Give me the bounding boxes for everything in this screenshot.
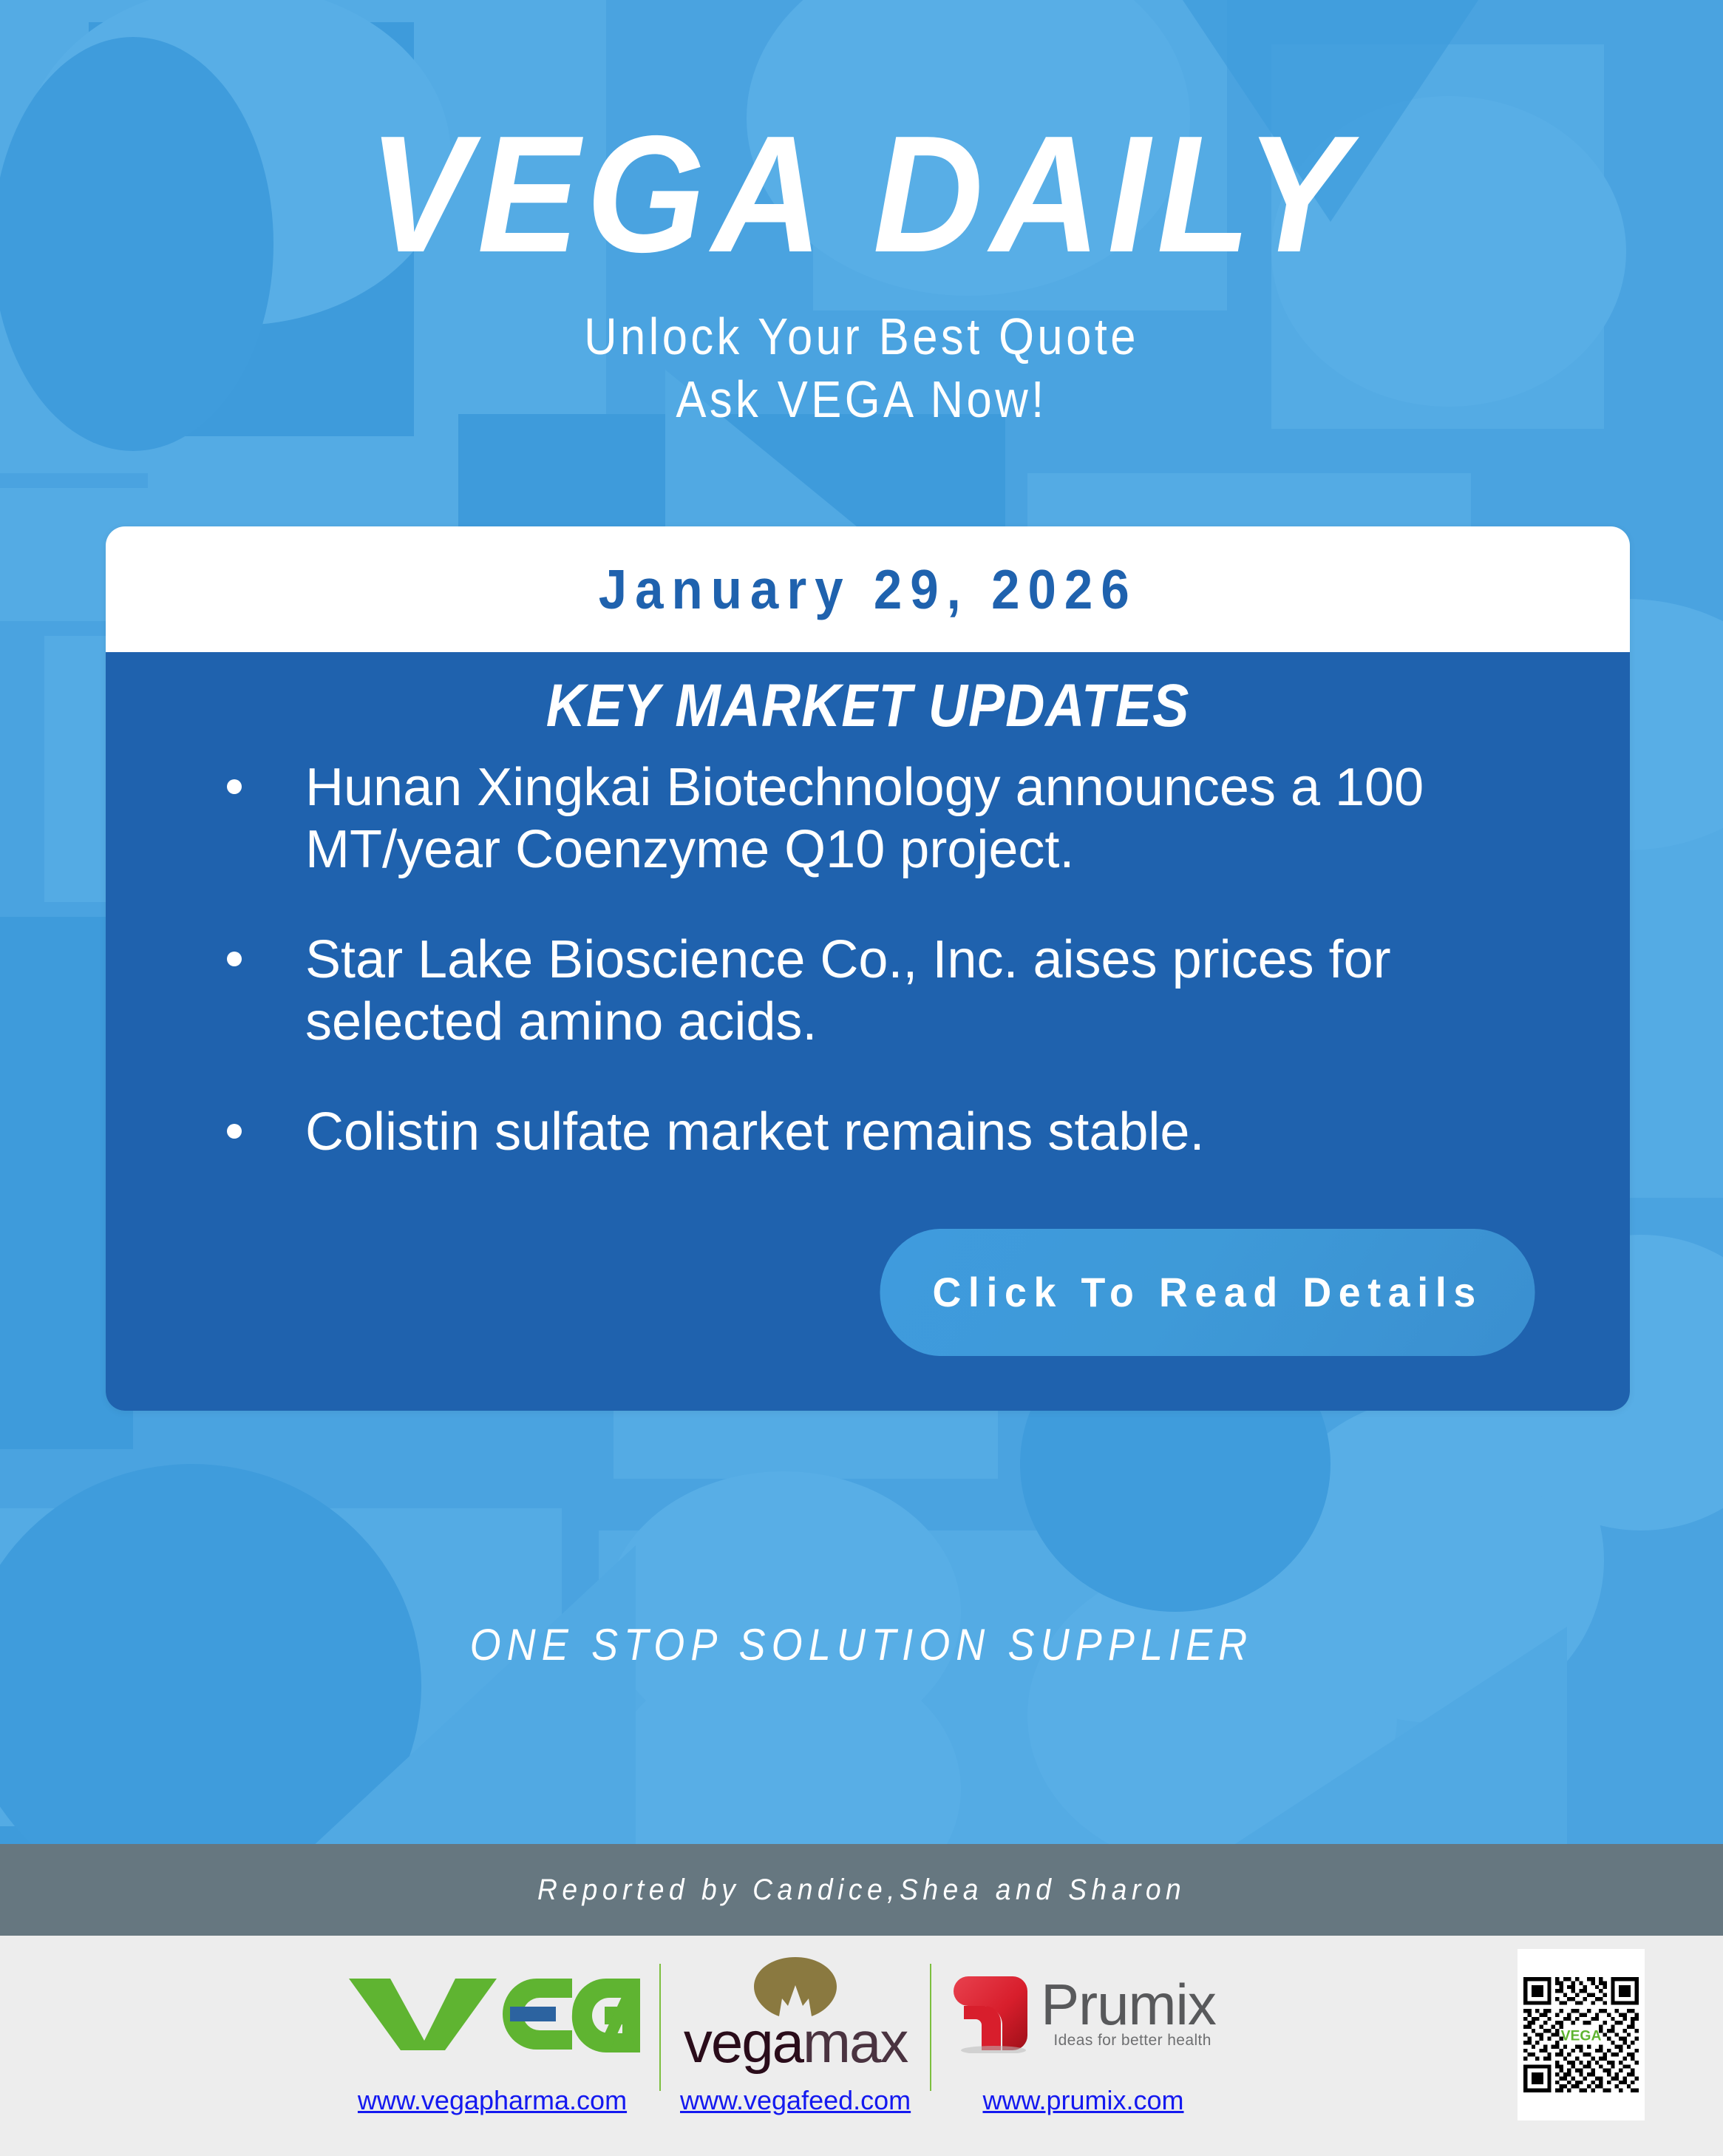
section-title: KEY MARKET UPDATES — [182, 671, 1554, 757]
brand-cell-vegamax: vegamax www.vegafeed.com — [661, 1945, 930, 2116]
bullet-dot-icon — [227, 1124, 242, 1139]
read-details-button[interactable]: Click To Read Details — [880, 1229, 1535, 1356]
newsletter-poster: VEGA DAILY Unlock Your Best Quote Ask VE… — [0, 0, 1723, 2156]
brand-cell-prumix: Prumix Ideas for better health www.prumi… — [931, 1945, 1235, 2116]
poster-header: VEGA DAILY Unlock Your Best Quote Ask VE… — [0, 0, 1723, 432]
date-banner: January 29, 2026 — [106, 526, 1630, 652]
vegafeed-link[interactable]: www.vegafeed.com — [680, 2085, 911, 2116]
company-slogan: ONE STOP SOLUTION SUPPLIER — [86, 1619, 1637, 1670]
vegamax-wordmark: vegamax — [684, 2013, 908, 2071]
list-item-text: Star Lake Bioscience Co., Inc. aises pri… — [305, 930, 1391, 1051]
bullet-dot-icon — [227, 779, 242, 794]
list-item-text: Colistin sulfate market remains stable. — [305, 1102, 1204, 1162]
tagline-line-2: Ask VEGA Now! — [103, 368, 1620, 431]
market-updates-card: January 29, 2026 KEY MARKET UPDATES Huna… — [106, 526, 1630, 1411]
tagline: Unlock Your Best Quote Ask VEGA Now! — [103, 277, 1620, 432]
list-item-text: Hunan Xingkai Biotechnology announces a … — [305, 758, 1424, 879]
qr-code-icon[interactable]: VEGA — [1518, 1949, 1645, 2121]
bullet-dot-icon — [227, 952, 242, 966]
tagline-line-1: Unlock Your Best Quote — [103, 305, 1620, 368]
vegamax-word-bold: vega — [684, 2010, 803, 2075]
brand-strip: www.vegapharma.com vegamax www.vegafeed.… — [325, 1945, 1235, 2116]
vegamax-logo-icon: vegamax — [684, 1956, 908, 2071]
reporter-credit: Reported by Candice,Shea and Sharon — [537, 1874, 1186, 1907]
vega-logo-box — [344, 1945, 640, 2082]
prumix-tagline: Ideas for better health — [1041, 2032, 1216, 2050]
prumix-link[interactable]: www.prumix.com — [982, 2085, 1183, 2116]
reporter-band: Reported by Candice,Shea and Sharon — [0, 1844, 1723, 1936]
footer: www.vegapharma.com vegamax www.vegafeed.… — [0, 1936, 1723, 2156]
prumix-text-column: Prumix Ideas for better health — [1041, 1977, 1216, 2050]
card-body: KEY MARKET UPDATES Hunan Xingkai Biotech… — [106, 652, 1630, 1411]
page-title: VEGA DAILY — [69, 0, 1654, 277]
market-updates-list: Hunan Xingkai Biotechnology announces a … — [106, 757, 1630, 1164]
vegamax-logo-box: vegamax — [684, 1945, 908, 2082]
prumix-logo-box: Prumix Ideas for better health — [951, 1945, 1216, 2082]
svg-text:VEGA: VEGA — [1561, 2028, 1602, 2044]
list-item: Star Lake Bioscience Co., Inc. aises pri… — [217, 929, 1549, 1053]
brand-cell-vega: www.vegapharma.com — [325, 1945, 659, 2116]
vegamax-word-light: max — [803, 2010, 907, 2075]
list-item: Hunan Xingkai Biotechnology announces a … — [217, 757, 1549, 881]
cta-row: Click To Read Details — [106, 1164, 1630, 1356]
issue-date: January 29, 2026 — [598, 557, 1137, 621]
vega-logo-icon — [344, 1973, 640, 2054]
vegapharma-link[interactable]: www.vegapharma.com — [358, 2085, 627, 2116]
prumix-wordmark: Prumix — [1041, 1977, 1216, 2033]
prumix-logo-icon: Prumix Ideas for better health — [951, 1973, 1216, 2053]
list-item: Colistin sulfate market remains stable. — [217, 1102, 1549, 1164]
